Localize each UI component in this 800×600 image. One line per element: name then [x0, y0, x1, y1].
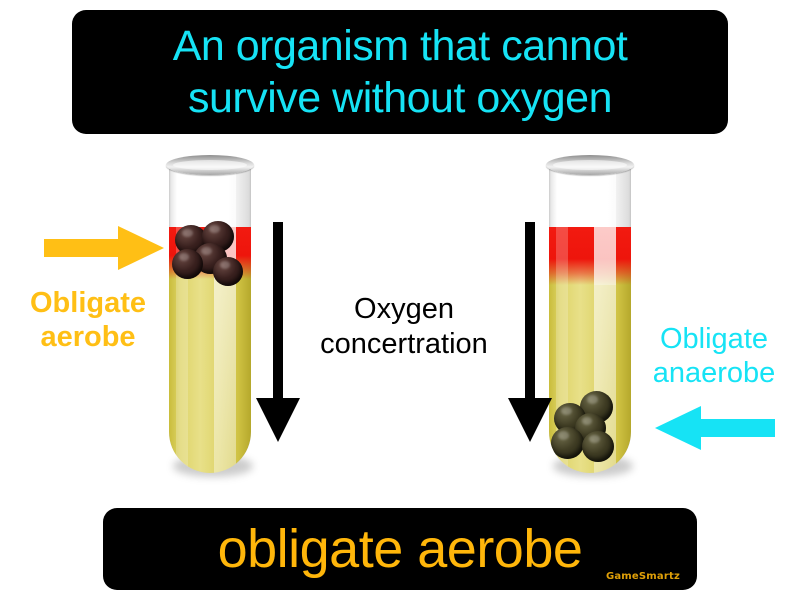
term-footer-bar: obligate aerobe GameSmartz — [103, 508, 697, 590]
tube-rim — [546, 155, 634, 175]
test-tube-obligate-anaerobe — [549, 155, 631, 473]
oxygen-caption-line-2: concertration — [296, 327, 512, 362]
bacterial-colony — [172, 249, 203, 279]
term-title: obligate aerobe — [218, 520, 583, 578]
tube-oxygen-band — [549, 227, 631, 285]
bacterial-colony — [551, 427, 584, 459]
definition-text-line-2: survive without oxygen — [188, 72, 612, 124]
definition-text-line-1: An organism that cannot — [173, 20, 628, 72]
watermark-label: GameSmartz — [606, 571, 680, 582]
arrow-head-right-icon — [118, 226, 164, 270]
obligate-anaerobe-label-line-1: Obligate — [630, 322, 798, 356]
tube-glass-body — [549, 165, 631, 473]
obligate-anaerobe-label: Obligate anaerobe — [630, 322, 798, 390]
arrow-head-left-icon — [655, 406, 701, 450]
arrow-shaft — [273, 222, 283, 402]
oxygen-caption-line-1: Oxygen — [296, 292, 512, 327]
arrow-shaft — [44, 239, 120, 257]
obligate-aerobe-label-line-2: aerobe — [8, 320, 168, 354]
bacterial-colony — [213, 257, 243, 286]
test-tube-obligate-aerobe — [169, 155, 251, 473]
oxygen-concentration-caption: Oxygen concertration — [296, 292, 512, 362]
obligate-anaerobe-arrow-left-icon — [655, 406, 775, 450]
obligate-aerobe-arrow-right-icon — [44, 226, 164, 270]
bacterial-colony — [582, 431, 614, 462]
arrow-shaft — [525, 222, 535, 402]
oxygen-gradient-arrow-right — [508, 222, 552, 442]
arrow-shaft — [699, 419, 775, 437]
oxygen-gradient-arrow-left — [256, 222, 300, 442]
arrow-head-down-icon — [508, 398, 552, 442]
obligate-aerobe-label: Obligate aerobe — [8, 286, 168, 354]
tube-rim — [166, 155, 254, 175]
obligate-anaerobe-label-line-2: anaerobe — [630, 356, 798, 390]
obligate-aerobe-label-line-1: Obligate — [8, 286, 168, 320]
arrow-head-down-icon — [256, 398, 300, 442]
tube-glass-body — [169, 165, 251, 473]
definition-header-bar: An organism that cannot survive without … — [72, 10, 728, 134]
